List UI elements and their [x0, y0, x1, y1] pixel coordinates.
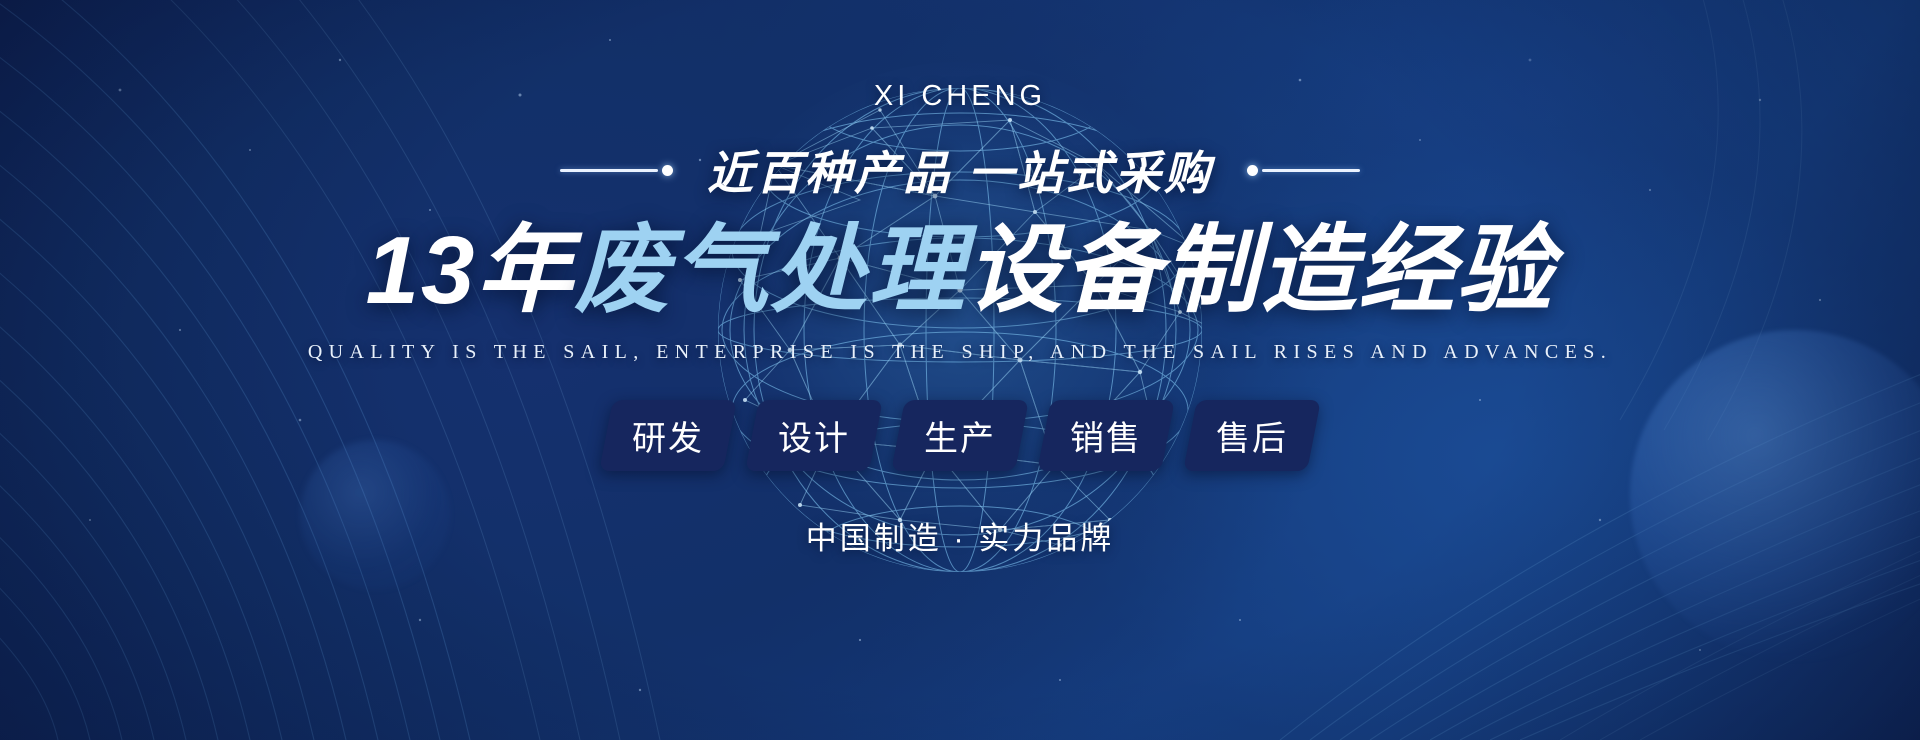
- headline-part-tail: 设备制造经验: [966, 217, 1554, 324]
- brand-name-english: XI CHENG: [874, 80, 1046, 113]
- left-divider-decoration: [560, 165, 673, 176]
- service-chip-sales[interactable]: 销售: [1037, 400, 1175, 471]
- divider-bar: [560, 169, 658, 172]
- english-tagline: QUALITY IS THE SAIL, ENTERPRISE IS THE S…: [308, 341, 1612, 364]
- service-chip-list: 研发 设计 生产 销售 售后: [606, 400, 1314, 471]
- service-chip-label: 研发: [632, 411, 704, 460]
- service-chip-rd[interactable]: 研发: [599, 400, 737, 471]
- service-chip-label: 设计: [778, 411, 850, 460]
- banner-footer-slogan: 中国制造 · 实力品牌: [806, 513, 1115, 558]
- banner-subtitle: 近百种产品 一站式采购: [707, 137, 1213, 203]
- divider-dot-icon: [662, 165, 673, 176]
- service-chip-aftersales[interactable]: 售后: [1183, 400, 1321, 471]
- service-chip-label: 售后: [1216, 411, 1288, 460]
- divider-bar: [1262, 169, 1360, 172]
- headline-part-years: 13年: [366, 217, 575, 324]
- right-divider-decoration: [1247, 165, 1360, 176]
- service-chip-label: 销售: [1070, 411, 1142, 460]
- subtitle-row: 近百种产品 一站式采购: [560, 137, 1360, 203]
- service-chip-production[interactable]: 生产: [891, 400, 1029, 471]
- banner-headline: 13年废气处理设备制造经验: [366, 217, 1555, 325]
- service-chip-design[interactable]: 设计: [745, 400, 883, 471]
- promotional-banner: XI CHENG 近百种产品 一站式采购 13年废气处理设备制造经验 QUALI…: [0, 0, 1920, 740]
- banner-content: XI CHENG 近百种产品 一站式采购 13年废气处理设备制造经验 QUALI…: [0, 0, 1920, 740]
- divider-dot-icon: [1247, 165, 1258, 176]
- headline-part-highlight: 废气处理: [574, 217, 966, 324]
- service-chip-label: 生产: [924, 411, 996, 460]
